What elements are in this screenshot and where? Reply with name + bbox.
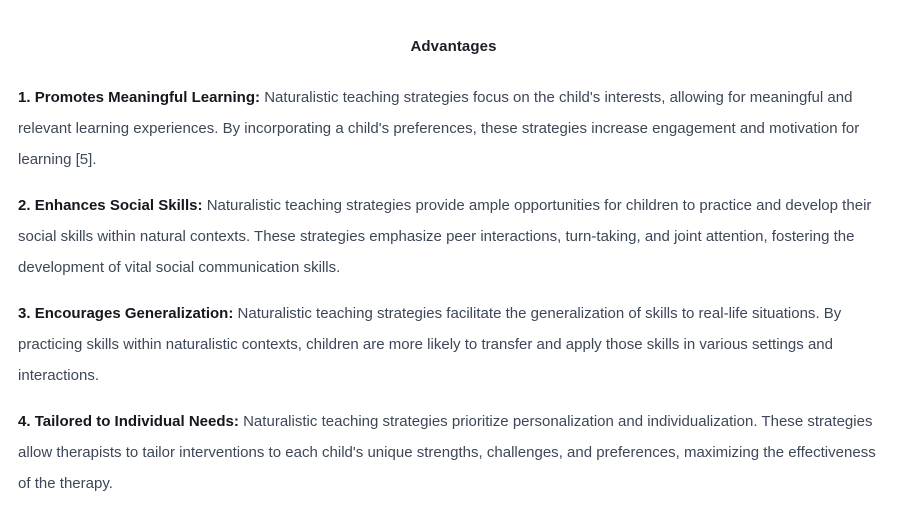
advantage-heading: 4. Tailored to Individual Needs: xyxy=(18,413,243,430)
advantage-item: 1. Promotes Meaningful Learning: Natural… xyxy=(18,82,889,175)
advantage-heading: 3. Encourages Generalization: xyxy=(18,305,238,322)
advantage-item: 4. Tailored to Individual Needs: Natural… xyxy=(18,406,889,499)
advantage-heading: 1. Promotes Meaningful Learning: xyxy=(18,89,264,106)
document-page: Advantages 1. Promotes Meaningful Learni… xyxy=(0,0,907,522)
page-title: Advantages xyxy=(18,0,889,55)
advantages-list: 1. Promotes Meaningful Learning: Natural… xyxy=(18,82,889,499)
advantage-heading: 2. Enhances Social Skills: xyxy=(18,197,207,214)
advantage-item: 3. Encourages Generalization: Naturalist… xyxy=(18,298,889,391)
advantage-item: 2. Enhances Social Skills: Naturalistic … xyxy=(18,190,889,283)
